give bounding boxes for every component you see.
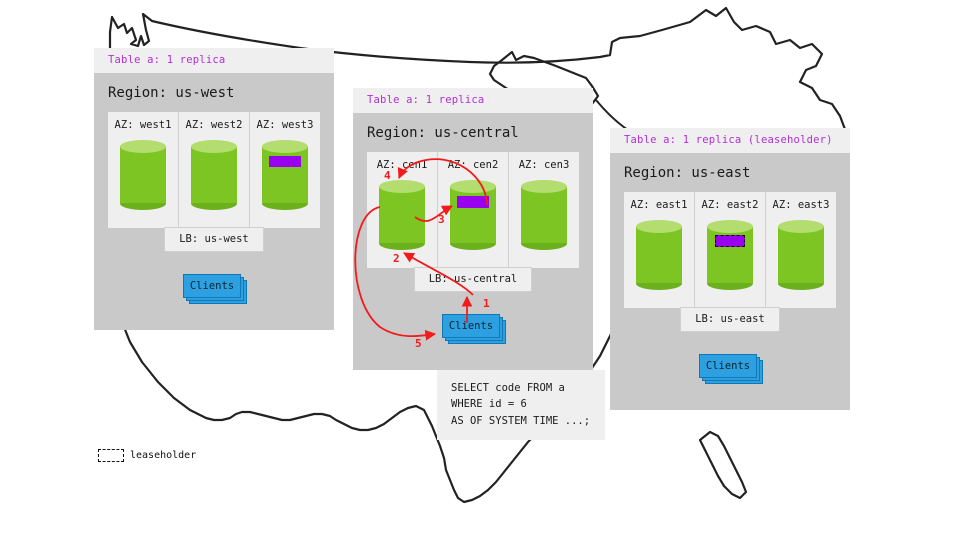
region-body-us-east: Region: us-east AZ: east1 AZ: east2 — [610, 153, 850, 410]
cylinder-body — [778, 226, 824, 283]
az-label-east2: AZ: east2 — [695, 200, 765, 211]
clients-label-us-west[interactable]: Clients — [183, 274, 241, 298]
cylinder-body — [636, 226, 682, 283]
az-cell-cen1[interactable]: AZ: cen1 — [367, 152, 438, 269]
clients-row-us-central: Clients — [367, 314, 579, 370]
step-label-3: 3 — [438, 214, 445, 225]
region-body-us-central: Region: us-central AZ: cen1 AZ: cen2 — [353, 113, 593, 370]
az-row-us-central: AZ: cen1 AZ: cen2 — [367, 152, 579, 269]
cylinder-top — [262, 140, 308, 153]
az-cell-cen3[interactable]: AZ: cen3 — [509, 152, 579, 269]
az-cell-west3[interactable]: AZ: west3 — [250, 112, 320, 229]
az-cell-west1[interactable]: AZ: west1 — [108, 112, 179, 229]
cylinder-top — [191, 140, 237, 153]
clients-stack-us-east[interactable]: Clients — [699, 354, 761, 382]
clients-label-us-central[interactable]: Clients — [442, 314, 500, 338]
az-label-west2: AZ: west2 — [179, 120, 249, 131]
region-header-us-central: Table a: 1 replica — [353, 88, 593, 113]
load-balancer-us-east[interactable]: LB: us-east — [680, 307, 780, 332]
region-title-us-east: Region: us-east — [624, 153, 836, 192]
sql-query-box: SELECT code FROM a WHERE id = 6 AS OF SY… — [437, 370, 605, 440]
az-cell-east3[interactable]: AZ: east3 — [766, 192, 836, 309]
clients-stack-us-central[interactable]: Clients — [442, 314, 504, 342]
step-label-2: 2 — [393, 253, 400, 264]
az-cell-east1[interactable]: AZ: east1 — [624, 192, 695, 309]
node-cylinder-west2[interactable] — [191, 140, 237, 210]
region-panel-us-west: Table a: 1 replica Region: us-west AZ: w… — [94, 48, 334, 330]
cylinder-body — [450, 186, 496, 243]
az-label-west3: AZ: west3 — [250, 120, 320, 131]
cylinder-top — [120, 140, 166, 153]
node-cylinder-west1[interactable] — [120, 140, 166, 210]
clients-row-us-east: Clients — [624, 354, 836, 410]
az-cell-east2[interactable]: AZ: east2 — [695, 192, 766, 309]
region-body-us-west: Region: us-west AZ: west1 AZ: west2 — [94, 73, 334, 330]
clients-label-us-east[interactable]: Clients — [699, 354, 757, 378]
step-label-5: 5 — [415, 338, 422, 349]
lb-row-us-central: LB: us-central — [367, 267, 579, 292]
region-title-us-central: Region: us-central — [367, 113, 579, 152]
cylinder-body — [521, 186, 567, 243]
cylinder-body — [379, 186, 425, 243]
az-cell-west2[interactable]: AZ: west2 — [179, 112, 250, 229]
region-title-us-west: Region: us-west — [108, 73, 320, 112]
step-label-1: 1 — [483, 298, 490, 309]
az-label-cen1: AZ: cen1 — [367, 160, 437, 171]
cylinder-top — [636, 220, 682, 233]
cylinder-top — [521, 180, 567, 193]
load-balancer-us-west[interactable]: LB: us-west — [164, 227, 264, 252]
az-row-us-west: AZ: west1 AZ: west2 AZ — [108, 112, 320, 229]
region-header-us-east: Table a: 1 replica (leaseholder) — [610, 128, 850, 153]
replica-block-west3[interactable] — [269, 156, 301, 167]
cylinder-top — [778, 220, 824, 233]
az-cell-cen2[interactable]: AZ: cen2 — [438, 152, 509, 269]
region-panel-us-east: Table a: 1 replica (leaseholder) Region:… — [610, 128, 850, 410]
az-label-cen2: AZ: cen2 — [438, 160, 508, 171]
cylinder-body — [191, 146, 237, 203]
cylinder-top — [450, 180, 496, 193]
clients-stack-us-west[interactable]: Clients — [183, 274, 245, 302]
node-cylinder-west3[interactable] — [262, 140, 308, 210]
az-label-east1: AZ: east1 — [624, 200, 694, 211]
dashed-rect-icon — [98, 449, 124, 462]
clients-row-us-west: Clients — [108, 274, 320, 330]
legend-leaseholder: leaseholder — [98, 449, 196, 462]
node-cylinder-cen3[interactable] — [521, 180, 567, 250]
region-panel-us-central: Table a: 1 replica Region: us-central AZ… — [353, 88, 593, 370]
lb-row-us-west: LB: us-west — [108, 227, 320, 252]
replica-block-east2-leaseholder[interactable] — [715, 235, 745, 247]
node-cylinder-cen2[interactable] — [450, 180, 496, 250]
node-cylinder-cen1[interactable] — [379, 180, 425, 250]
cylinder-top — [707, 220, 753, 233]
load-balancer-us-central[interactable]: LB: us-central — [414, 267, 533, 292]
az-label-cen3: AZ: cen3 — [509, 160, 579, 171]
cylinder-body — [262, 146, 308, 203]
node-cylinder-east3[interactable] — [778, 220, 824, 290]
legend-label: leaseholder — [130, 450, 196, 461]
az-label-east3: AZ: east3 — [766, 200, 836, 211]
az-row-us-east: AZ: east1 AZ: east2 — [624, 192, 836, 309]
az-label-west1: AZ: west1 — [108, 120, 178, 131]
region-header-us-west: Table a: 1 replica — [94, 48, 334, 73]
node-cylinder-east2[interactable] — [707, 220, 753, 290]
replica-block-cen2[interactable] — [457, 196, 489, 208]
lb-row-us-east: LB: us-east — [624, 307, 836, 332]
diagram-canvas: Table a: 1 replica Region: us-west AZ: w… — [0, 0, 960, 540]
cylinder-body — [120, 146, 166, 203]
step-label-4: 4 — [384, 170, 391, 181]
node-cylinder-east1[interactable] — [636, 220, 682, 290]
